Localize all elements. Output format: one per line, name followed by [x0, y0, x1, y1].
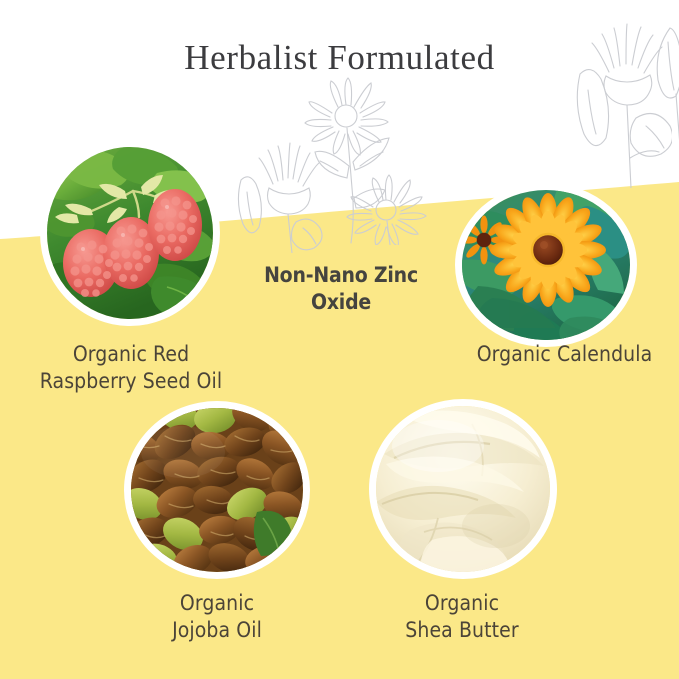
ingredient-image-jojoba [131, 408, 303, 572]
non-nano-zinc-oxide-callout: Non-Nano Zinc Oxide [248, 262, 434, 316]
deco-calendula-bloom-mid-icon [292, 70, 410, 245]
ingredient-image-calendula [462, 190, 630, 340]
deco-calendula-sprig-right-icon [576, 8, 672, 188]
ingredient-label-raspberry: Organic Red Raspberry Seed Oil [0, 341, 262, 395]
deco-calendula-bloom-lower-icon [338, 160, 438, 245]
raspberry-photo [47, 147, 213, 319]
ingredient-label-jojoba: Organic Jojoba Oil [128, 590, 306, 644]
ingredient-label-calendula: Organic Calendula [450, 341, 679, 368]
promo-graphic: Herbalist Formulated Non-Nano Zinc Oxide [0, 0, 679, 679]
shea-butter-photo [376, 406, 550, 572]
page-title: Herbalist Formulated [0, 38, 679, 78]
ingredient-image-raspberry [47, 147, 213, 319]
ingredient-label-shea: Organic Shea Butter [372, 590, 552, 644]
deco-calendula-sprig-left-icon [236, 118, 328, 253]
ingredient-image-shea [376, 406, 550, 572]
calendula-photo [462, 190, 630, 340]
jojoba-photo [131, 408, 303, 572]
yellow-background-band [0, 0, 679, 679]
